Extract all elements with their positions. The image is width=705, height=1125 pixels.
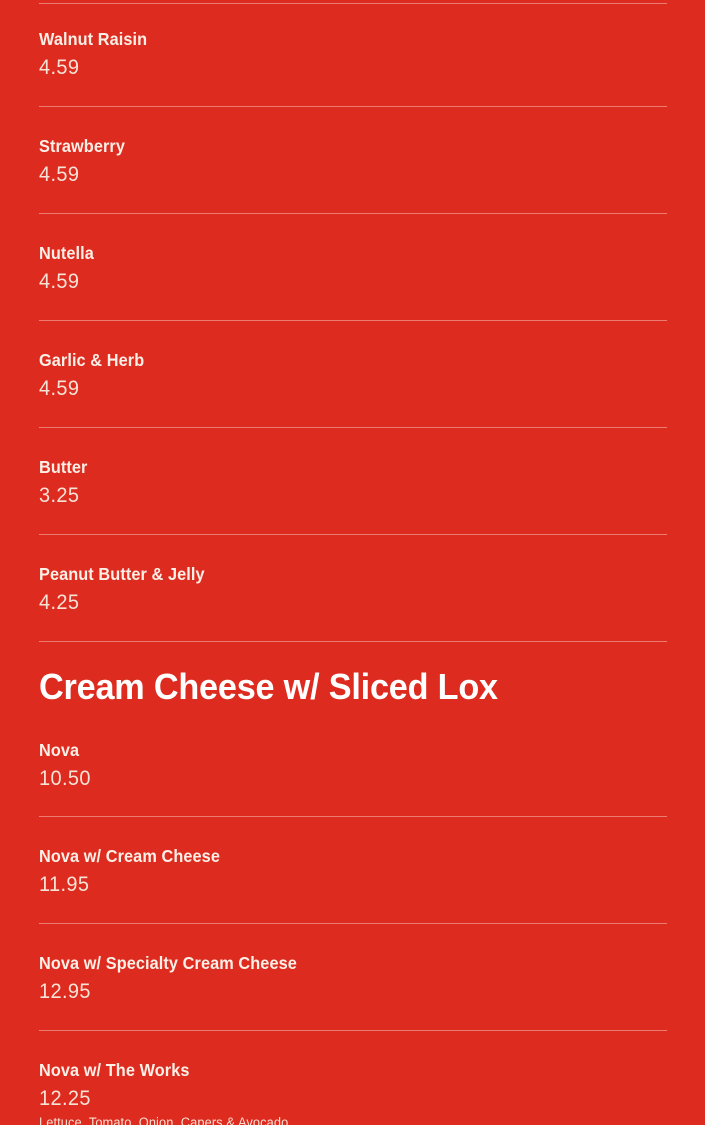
menu-item-name: Nutella — [39, 243, 622, 263]
menu-item-row[interactable]: Butter 3.25 — [39, 428, 666, 535]
menu-item-price: 3.25 — [39, 483, 635, 509]
menu-item-price: 4.25 — [39, 590, 635, 616]
menu-item-name: Walnut Raisin — [39, 29, 622, 49]
menu-item-name: Butter — [39, 457, 622, 477]
menu-item-price: 4.59 — [39, 376, 635, 402]
menu-item-price: 4.59 — [39, 55, 635, 81]
menu-item-row[interactable]: Strawberry 4.59 — [39, 107, 666, 214]
menu-item-name: Nova w/ Cream Cheese — [39, 846, 622, 866]
menu-item-row[interactable]: Walnut Raisin 4.59 — [39, 0, 666, 107]
menu-item-name: Nova w/ Specialty Cream Cheese — [39, 953, 622, 973]
menu-page: Walnut Raisin 4.59 Strawberry 4.59 Nutel… — [0, 0, 705, 1125]
menu-item-name: Nova — [39, 740, 622, 760]
menu-item-description: Lettuce, Tomato, Onion, Capers & Avocado — [39, 1114, 635, 1125]
menu-section-lox: Nova 10.50 Nova w/ Cream Cheese 11.95 No… — [39, 724, 666, 1125]
menu-item-price: 12.25 — [39, 1086, 635, 1112]
menu-item-name: Strawberry — [39, 136, 622, 156]
menu-item-price: 11.95 — [39, 872, 635, 898]
menu-item-row[interactable]: Nova 10.50 — [39, 724, 666, 817]
menu-item-row[interactable]: Garlic & Herb 4.59 — [39, 321, 666, 428]
menu-item-price: 10.50 — [39, 766, 635, 792]
menu-item-row[interactable]: Nutella 4.59 — [39, 214, 666, 321]
section-heading-cream-cheese-lox: Cream Cheese w/ Sliced Lox — [39, 642, 635, 724]
menu-item-price: 4.59 — [39, 162, 635, 188]
menu-item-price: 4.59 — [39, 269, 635, 295]
menu-item-row[interactable]: Nova w/ The Works 12.25 Lettuce, Tomato,… — [39, 1031, 666, 1125]
menu-item-name: Nova w/ The Works — [39, 1060, 622, 1080]
menu-item-name: Garlic & Herb — [39, 350, 622, 370]
menu-item-row[interactable]: Nova w/ Specialty Cream Cheese 12.95 — [39, 924, 666, 1031]
menu-item-row[interactable]: Peanut Butter & Jelly 4.25 — [39, 535, 666, 642]
menu-item-price: 12.95 — [39, 979, 635, 1005]
menu-item-row[interactable]: Nova w/ Cream Cheese 11.95 — [39, 817, 666, 924]
menu-section-flavors: Walnut Raisin 4.59 Strawberry 4.59 Nutel… — [39, 0, 666, 642]
menu-item-name: Peanut Butter & Jelly — [39, 564, 622, 584]
